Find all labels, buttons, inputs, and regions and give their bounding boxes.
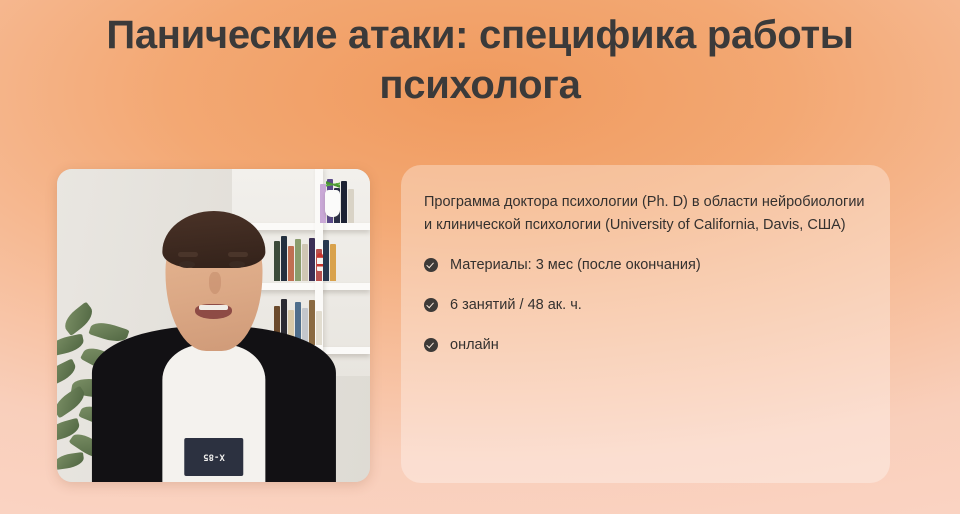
eyebrow-right [228, 252, 248, 257]
book-row [274, 233, 336, 281]
check-circle-icon [424, 258, 438, 272]
eyebrow-left [178, 252, 198, 257]
tshirt-print: X-85 [184, 438, 243, 476]
list-item-label: 6 занятий / 48 ак. ч. [450, 294, 582, 316]
check-circle-icon [424, 298, 438, 312]
program-details-list: Материалы: 3 мес (после окончания) 6 зан… [424, 254, 868, 356]
video-scene: X-85 [57, 169, 370, 482]
program-info-content: Программа доктора психологии (Ph. D) в о… [424, 191, 868, 356]
tshirt-print-text: X-85 [184, 438, 243, 476]
program-description: Программа доктора психологии (Ph. D) в о… [424, 191, 868, 237]
lighthouse-figurine [317, 253, 323, 272]
program-info-card: Программа доктора психологии (Ph. D) в о… [401, 165, 890, 483]
list-item-label: онлайн [450, 334, 499, 356]
teeth [199, 305, 227, 311]
list-item-label: Материалы: 3 мес (после окончания) [450, 254, 701, 276]
page-title: Панические атаки: специфика работы психо… [30, 10, 930, 110]
list-item: Материалы: 3 мес (после окончания) [424, 254, 868, 276]
list-item: 6 занятий / 48 ак. ч. [424, 294, 868, 316]
white-pitcher [325, 190, 340, 217]
speaker-video-thumbnail[interactable]: X-85 [57, 169, 370, 482]
slide-root: Панические атаки: специфика работы психо… [0, 0, 960, 514]
check-circle-icon [424, 338, 438, 352]
list-item: онлайн [424, 334, 868, 356]
